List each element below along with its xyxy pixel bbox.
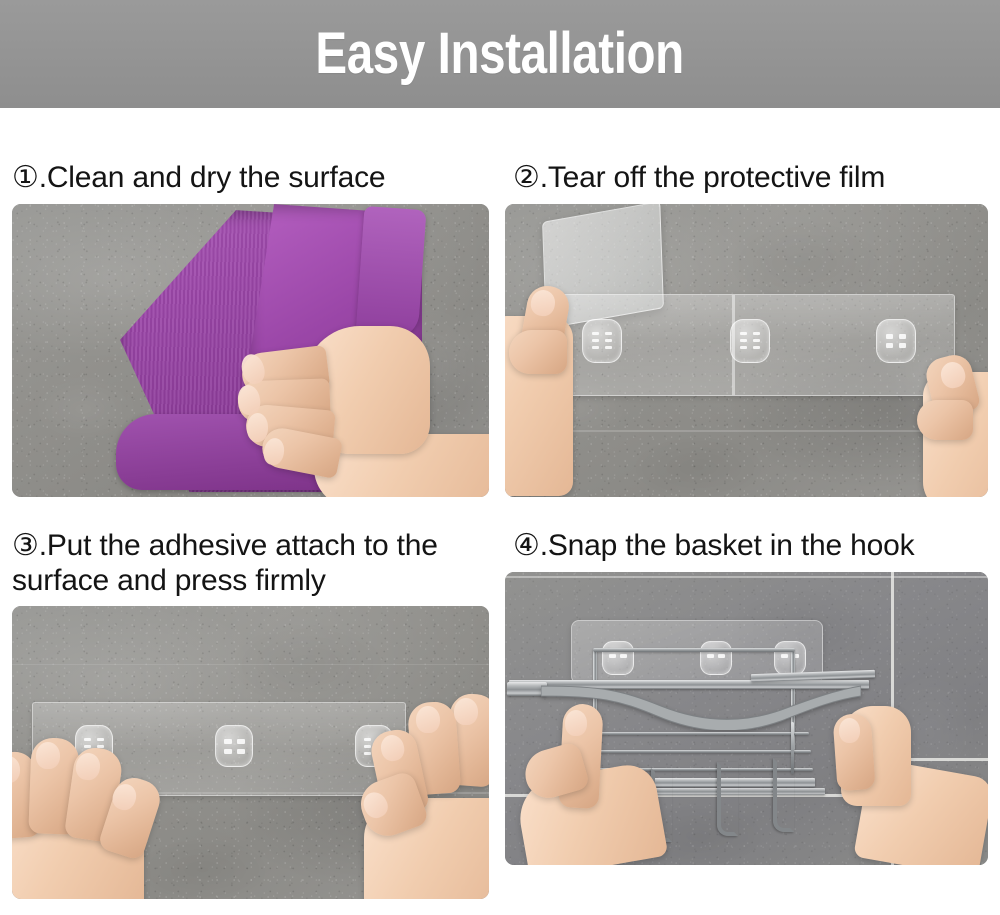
photo-press-adhesive bbox=[12, 606, 489, 899]
step-2: ②.Tear off the protective film bbox=[505, 160, 988, 497]
adhesive-pad bbox=[215, 725, 253, 767]
grout-line-horizontal bbox=[505, 576, 988, 578]
installation-steps: ①.Clean and dry the surface bbox=[0, 108, 1000, 915]
photo-tear-film bbox=[505, 204, 988, 497]
step-2-caption: ②.Tear off the protective film bbox=[513, 160, 988, 195]
adhesive-pad bbox=[602, 641, 634, 675]
photo-snap-basket bbox=[505, 572, 988, 865]
stone-seam bbox=[12, 664, 489, 665]
page-title: Easy Installation bbox=[316, 25, 684, 83]
step-4: ④.Snap the basket in the hook bbox=[505, 528, 988, 865]
adhesive-pad bbox=[876, 319, 916, 363]
adhesive-pad bbox=[774, 641, 806, 675]
adhesive-pad bbox=[700, 641, 732, 675]
photo-clean-surface bbox=[12, 204, 489, 497]
step-1: ①.Clean and dry the surface bbox=[12, 160, 489, 497]
rack-top-rail bbox=[593, 648, 795, 652]
adhesive-pad bbox=[582, 319, 622, 363]
adhesive-strip bbox=[553, 294, 955, 396]
step-3-caption: ③.Put the adhesive attach to the surface… bbox=[12, 528, 489, 598]
header-banner: Easy Installation bbox=[0, 0, 1000, 108]
hanging-hook bbox=[717, 762, 738, 836]
hanging-hook bbox=[773, 758, 794, 832]
step-3: ③.Put the adhesive attach to the surface… bbox=[12, 528, 489, 899]
stone-seam bbox=[505, 430, 988, 432]
step-1-caption: ①.Clean and dry the surface bbox=[12, 160, 489, 195]
adhesive-pad bbox=[730, 319, 770, 363]
step-4-caption: ④.Snap the basket in the hook bbox=[513, 528, 988, 563]
